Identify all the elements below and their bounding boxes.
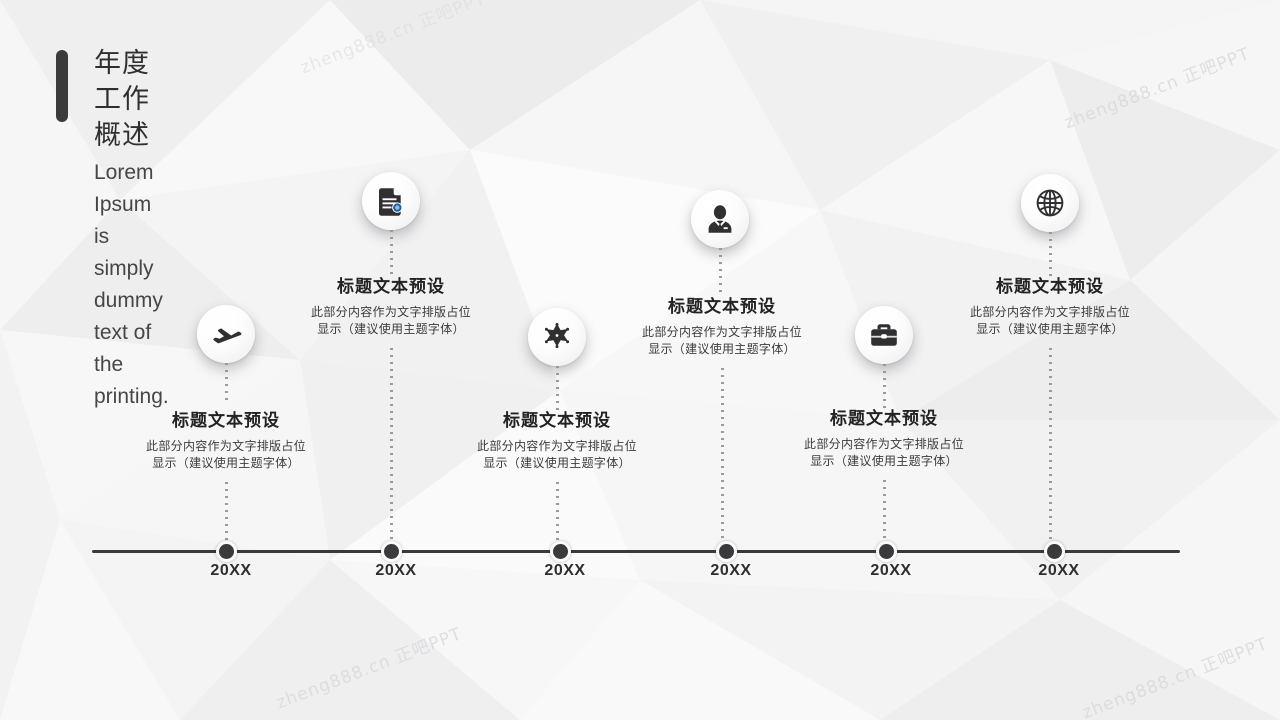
item-description: 此部分内容作为文字排版占位 显示（建议使用主题字体） (920, 304, 1180, 338)
connector-dots-lower (225, 482, 228, 544)
timeline-year-label: 20XX (710, 562, 751, 580)
briefcase-icon[interactable] (855, 306, 913, 364)
low-poly-background (0, 0, 1280, 720)
star-badge-icon[interactable] (528, 308, 586, 366)
page-title: 年度工作概述 (94, 46, 169, 154)
item-description-line2: 显示（建议使用主题字体） (754, 453, 1014, 470)
timeline-year-label: 20XX (1038, 562, 1079, 580)
timeline-year-label: 20XX (375, 562, 416, 580)
connector-dots-upper (883, 364, 886, 408)
item-description-line1: 此部分内容作为文字排版占位 (96, 438, 356, 455)
item-title: 标题文本预设 (592, 296, 852, 318)
header-accent-bar (56, 50, 68, 122)
timeline-node[interactable] (876, 541, 897, 562)
connector-dots-upper (390, 230, 393, 276)
slide-root: zheng888.cn 正吧PPT zheng888.cn 正吧PPT zhen… (0, 0, 1280, 720)
item-text-block: 标题文本预设 此部分内容作为文字排版占位 显示（建议使用主题字体） (261, 276, 521, 338)
item-description-line1: 此部分内容作为文字排版占位 (427, 438, 687, 455)
connector-dots-lower (883, 480, 886, 544)
page-subtitle: Lorem Ipsum is simply dummy text of the … (94, 157, 169, 413)
timeline-axis (92, 550, 1180, 553)
airplane-icon[interactable] (197, 305, 255, 363)
item-description-line2: 显示（建议使用主题字体） (427, 455, 687, 472)
connector-dots-upper (1049, 232, 1052, 276)
header-text-group: 年度工作概述 Lorem Ipsum is simply dummy text … (94, 46, 169, 413)
timeline-node[interactable] (1044, 541, 1065, 562)
connector-dots-lower (721, 368, 724, 544)
item-text-block: 标题文本预设 此部分内容作为文字排版占位 显示（建议使用主题字体） (427, 410, 687, 472)
item-description: 此部分内容作为文字排版占位 显示（建议使用主题字体） (261, 304, 521, 338)
item-text-block: 标题文本预设 此部分内容作为文字排版占位 显示（建议使用主题字体） (754, 408, 1014, 470)
timeline-year-label: 20XX (870, 562, 911, 580)
connector-dots-lower (556, 482, 559, 544)
timeline-node[interactable] (716, 541, 737, 562)
businessman-icon[interactable] (691, 190, 749, 248)
globe-icon[interactable] (1021, 174, 1079, 232)
item-title: 标题文本预设 (920, 276, 1180, 298)
item-text-block: 标题文本预设 此部分内容作为文字排版占位 显示（建议使用主题字体） (920, 276, 1180, 338)
connector-dots-upper (556, 366, 559, 410)
document-seal-icon[interactable] (362, 172, 420, 230)
item-description: 此部分内容作为文字排版占位 显示（建议使用主题字体） (592, 324, 852, 358)
timeline-node[interactable] (550, 541, 571, 562)
item-text-block: 标题文本预设 此部分内容作为文字排版占位 显示（建议使用主题字体） (96, 410, 356, 472)
item-text-block: 标题文本预设 此部分内容作为文字排版占位 显示（建议使用主题字体） (592, 296, 852, 358)
item-description: 此部分内容作为文字排版占位 显示（建议使用主题字体） (427, 438, 687, 472)
item-title: 标题文本预设 (261, 276, 521, 298)
connector-dots-upper (225, 363, 228, 405)
connector-dots-lower (1049, 348, 1052, 544)
item-description-line2: 显示（建议使用主题字体） (261, 321, 521, 338)
timeline-year-label: 20XX (210, 562, 251, 580)
item-description: 此部分内容作为文字排版占位 显示（建议使用主题字体） (754, 436, 1014, 470)
item-description-line1: 此部分内容作为文字排版占位 (754, 436, 1014, 453)
item-description-line1: 此部分内容作为文字排版占位 (592, 324, 852, 341)
item-description: 此部分内容作为文字排版占位 显示（建议使用主题字体） (96, 438, 356, 472)
timeline-node[interactable] (381, 541, 402, 562)
item-title: 标题文本预设 (754, 408, 1014, 430)
item-title: 标题文本预设 (427, 410, 687, 432)
item-description-line1: 此部分内容作为文字排版占位 (920, 304, 1180, 321)
item-description-line2: 显示（建议使用主题字体） (96, 455, 356, 472)
item-description-line1: 此部分内容作为文字排版占位 (261, 304, 521, 321)
item-description-line2: 显示（建议使用主题字体） (920, 321, 1180, 338)
connector-dots-lower (390, 348, 393, 544)
item-title: 标题文本预设 (96, 410, 356, 432)
timeline-node[interactable] (216, 541, 237, 562)
item-description-line2: 显示（建议使用主题字体） (592, 341, 852, 358)
connector-dots-upper (719, 248, 722, 296)
timeline-year-label: 20XX (544, 562, 585, 580)
